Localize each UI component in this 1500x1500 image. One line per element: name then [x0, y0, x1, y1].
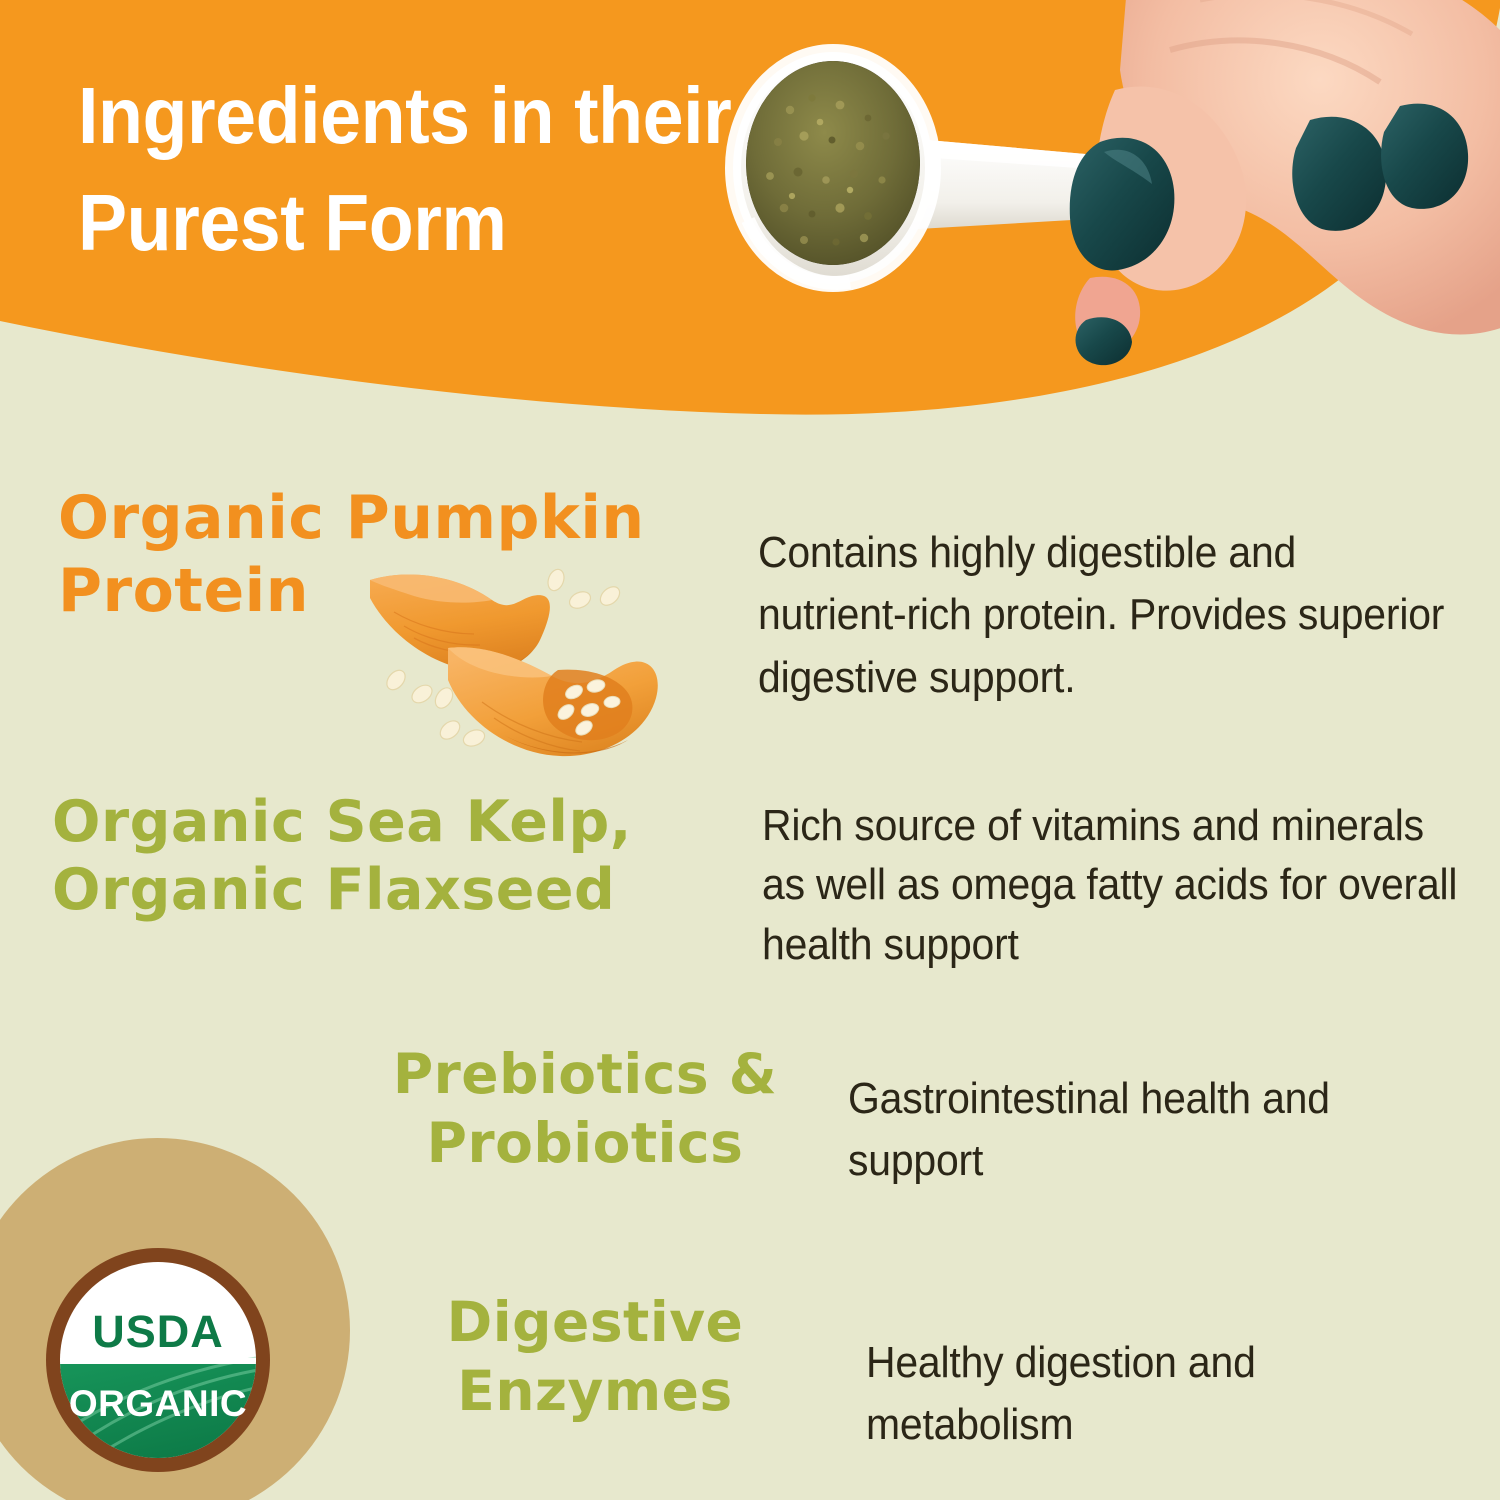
seal-usda-text: USDA: [92, 1306, 224, 1357]
title-line-2: Purest Form: [78, 178, 506, 267]
seal-divider: [52, 1358, 264, 1364]
usda-organic-seal[interactable]: USDA ORGANIC: [42, 1244, 274, 1476]
ingredient-description-digestive-enzymes: Healthy digestion and metabolism: [866, 1332, 1461, 1457]
ingredient-title-prebiotics-probiotics: Prebiotics & Probiotics: [330, 1040, 840, 1179]
pumpkin-wedges-illustration: [352, 552, 682, 782]
page-title: Ingredients in theirPurest Form: [78, 62, 980, 276]
infographic-page: Ingredients in theirPurest Form USDA ORG…: [0, 0, 1500, 1500]
header-banner: Ingredients in theirPurest Form: [0, 0, 1500, 470]
ingredient-description-pumpkin-protein: Contains highly digestible and nutrient-…: [758, 522, 1446, 709]
title-line-1: Ingredients in their: [78, 71, 731, 160]
ingredient-description-prebiotics-probiotics: Gastrointestinal health and support: [848, 1068, 1462, 1193]
ingredient-title-sea-kelp-flaxseed: Organic Sea Kelp, Organic Flaxseed: [52, 788, 792, 925]
ingredient-description-sea-kelp-flaxseed: Rich source of vitamins and minerals as …: [762, 796, 1469, 974]
ingredient-title-digestive-enzymes: Digestive Enzymes: [360, 1288, 830, 1427]
hand: [1070, 0, 1500, 365]
seal-organic-text: ORGANIC: [69, 1383, 247, 1424]
